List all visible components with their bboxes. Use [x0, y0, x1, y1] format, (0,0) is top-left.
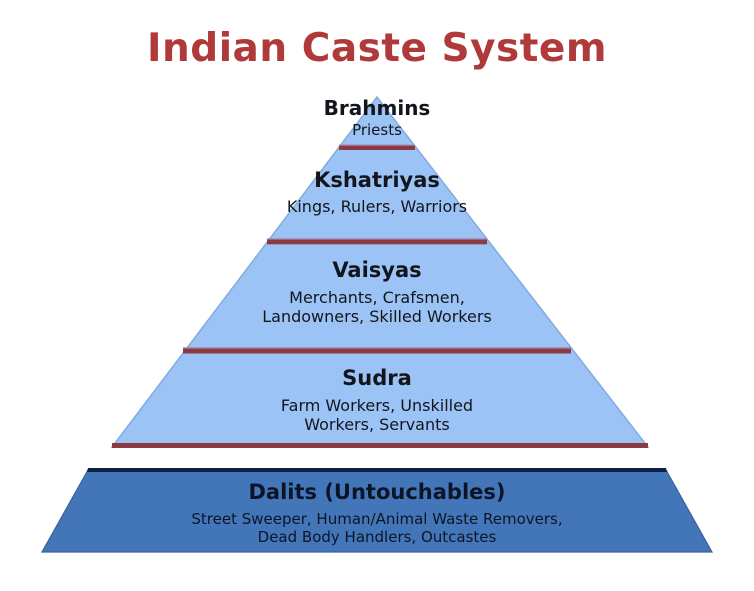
tier-kshatriyas-description: Kings, Rulers, Warriors — [0, 197, 754, 217]
tier-dalits-description-line-1: Street Sweeper, Human/Animal Waste Remov… — [0, 510, 754, 528]
dalits-band-top-border — [87, 468, 667, 472]
tier-brahmins-description-line-1: Priests — [0, 121, 754, 139]
tier-kshatriyas-name: Kshatriyas — [0, 168, 754, 194]
caste-pyramid-diagram: Brahmins Priests Kshatriyas Kings, Ruler… — [0, 0, 754, 591]
tier-sudra-description: Farm Workers, Unskilled Workers, Servant… — [0, 396, 754, 435]
tier-brahmins-description: Priests — [0, 121, 754, 139]
tier-dalits-description-line-2: Dead Body Handlers, Outcastes — [0, 528, 754, 546]
tier-vaisyas-description-line-2: Landowners, Skilled Workers — [0, 307, 754, 327]
pyramid-tier-vaisyas: Vaisyas Merchants, Crafsmen, Landowners,… — [0, 258, 754, 327]
tier-vaisyas-name: Vaisyas — [0, 258, 754, 284]
tier-kshatriyas-description-line-1: Kings, Rulers, Warriors — [0, 197, 754, 217]
tier-dalits-description: Street Sweeper, Human/Animal Waste Remov… — [0, 510, 754, 547]
tier-divider-3 — [183, 347, 571, 353]
tier-sudra-name: Sudra — [0, 366, 754, 392]
tier-dalits-name: Dalits (Untouchables) — [0, 480, 754, 506]
pyramid-base-edge — [112, 443, 648, 448]
tier-divider-2 — [267, 238, 487, 244]
tier-vaisyas-description: Merchants, Crafsmen, Landowners, Skilled… — [0, 288, 754, 327]
tier-brahmins-name: Brahmins — [0, 96, 754, 120]
pyramid-tier-sudra: Sudra Farm Workers, Unskilled Workers, S… — [0, 366, 754, 435]
tier-sudra-description-line-2: Workers, Servants — [0, 415, 754, 435]
tier-divider-1 — [339, 145, 415, 151]
tier-sudra-description-line-1: Farm Workers, Unskilled — [0, 396, 754, 416]
pyramid-tier-kshatriyas: Kshatriyas Kings, Rulers, Warriors — [0, 168, 754, 216]
tier-vaisyas-description-line-1: Merchants, Crafsmen, — [0, 288, 754, 308]
pyramid-tier-dalits: Dalits (Untouchables) Street Sweeper, Hu… — [0, 480, 754, 546]
pyramid-tier-brahmins: Brahmins Priests — [0, 96, 754, 140]
